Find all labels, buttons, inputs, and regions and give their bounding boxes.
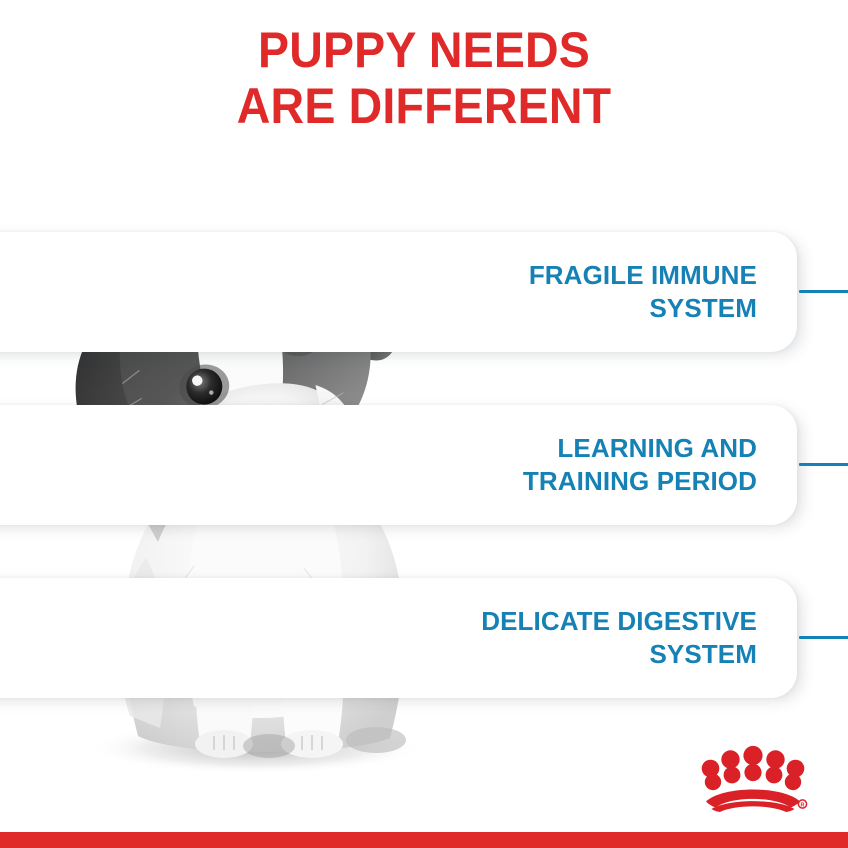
poster-canvas: PUPPY NEEDS ARE DIFFERENT	[0, 0, 848, 848]
footer-accent-bar	[0, 832, 848, 848]
callout-connector-line	[799, 290, 848, 293]
callout-learning-and-training-period: LEARNING AND TRAINING PERIOD	[0, 405, 797, 525]
callout-label-line-2: SYSTEM	[481, 638, 757, 671]
callout-connector-line	[799, 463, 848, 466]
svg-text:R: R	[801, 803, 805, 809]
page-title-line-2: ARE DIFFERENT	[30, 78, 819, 134]
callout-delicate-digestive-system: DELICATE DIGESTIVE SYSTEM	[0, 578, 797, 698]
callout-label-line-1: LEARNING AND	[523, 432, 757, 465]
callout-label-line-2: SYSTEM	[529, 292, 757, 325]
royal-canin-crown-logo: R	[697, 744, 809, 812]
callout-label-line-1: DELICATE DIGESTIVE	[481, 605, 757, 638]
callout-label: LEARNING AND TRAINING PERIOD	[523, 432, 797, 498]
page-title: PUPPY NEEDS ARE DIFFERENT	[30, 22, 819, 134]
callout-label: FRAGILE IMMUNE SYSTEM	[529, 259, 797, 325]
callout-label-line-1: FRAGILE IMMUNE	[529, 259, 757, 292]
callout-label-line-2: TRAINING PERIOD	[523, 465, 757, 498]
callout-fragile-immune-system: FRAGILE IMMUNE SYSTEM	[0, 232, 797, 352]
callout-label: DELICATE DIGESTIVE SYSTEM	[481, 605, 797, 671]
page-title-line-1: PUPPY NEEDS	[30, 22, 819, 78]
callout-connector-line	[799, 636, 848, 639]
